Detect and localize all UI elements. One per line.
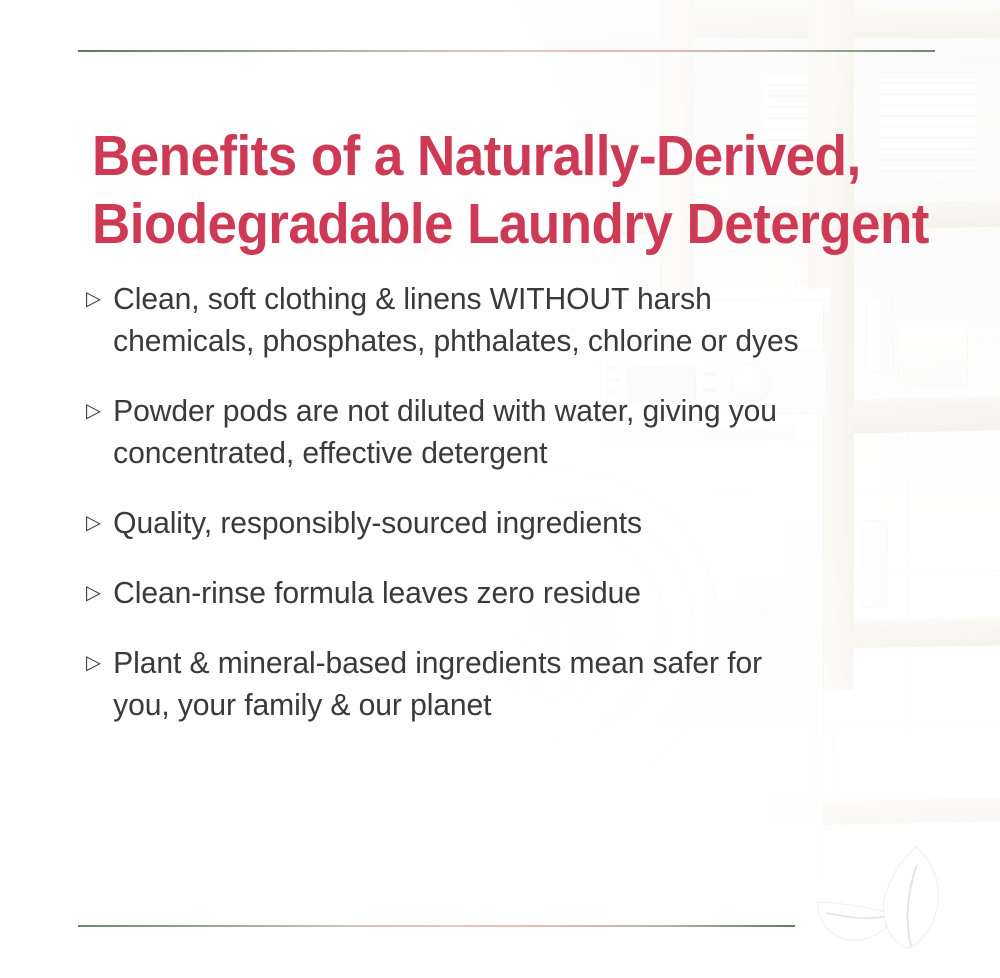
triangle-bullet-icon: ▷ [86, 502, 113, 544]
list-item: ▷ Clean-rinse formula leaves zero residu… [86, 572, 823, 614]
list-item: ▷ Quality, responsibly-sourced ingredien… [86, 502, 823, 544]
triangle-bullet-icon: ▷ [86, 572, 113, 614]
content-layer: Benefits of a Naturally-Derived, Biodegr… [0, 0, 1000, 978]
triangle-bullet-icon: ▷ [86, 390, 113, 432]
leaf-logo-icon [812, 845, 962, 950]
title-line-2: Biodegradable Laundry Detergent [92, 190, 883, 258]
page-title: Benefits of a Naturally-Derived, Biodegr… [92, 122, 883, 258]
infographic-canvas: Benefits of a Naturally-Derived, Biodegr… [0, 0, 1000, 978]
list-item-text: Quality, responsibly-sourced ingredients [113, 502, 823, 544]
list-item: ▷ Powder pods are not diluted with water… [86, 390, 823, 474]
title-line-1: Benefits of a Naturally-Derived, [92, 122, 883, 190]
benefits-list: ▷ Clean, soft clothing & linens WITHOUT … [86, 278, 846, 726]
triangle-bullet-icon: ▷ [86, 278, 113, 320]
list-item: ▷ Plant & mineral-based ingredients mean… [86, 642, 823, 726]
list-item-text: Clean, soft clothing & linens WITHOUT ha… [113, 278, 823, 362]
list-item-text: Clean-rinse formula leaves zero residue [113, 572, 823, 614]
list-item-text: Powder pods are not diluted with water, … [113, 390, 823, 474]
list-item-text: Plant & mineral-based ingredients mean s… [113, 642, 823, 726]
bottom-divider-rule [78, 925, 795, 927]
triangle-bullet-icon: ▷ [86, 642, 113, 684]
top-divider-rule [78, 50, 935, 52]
list-item: ▷ Clean, soft clothing & linens WITHOUT … [86, 278, 823, 362]
